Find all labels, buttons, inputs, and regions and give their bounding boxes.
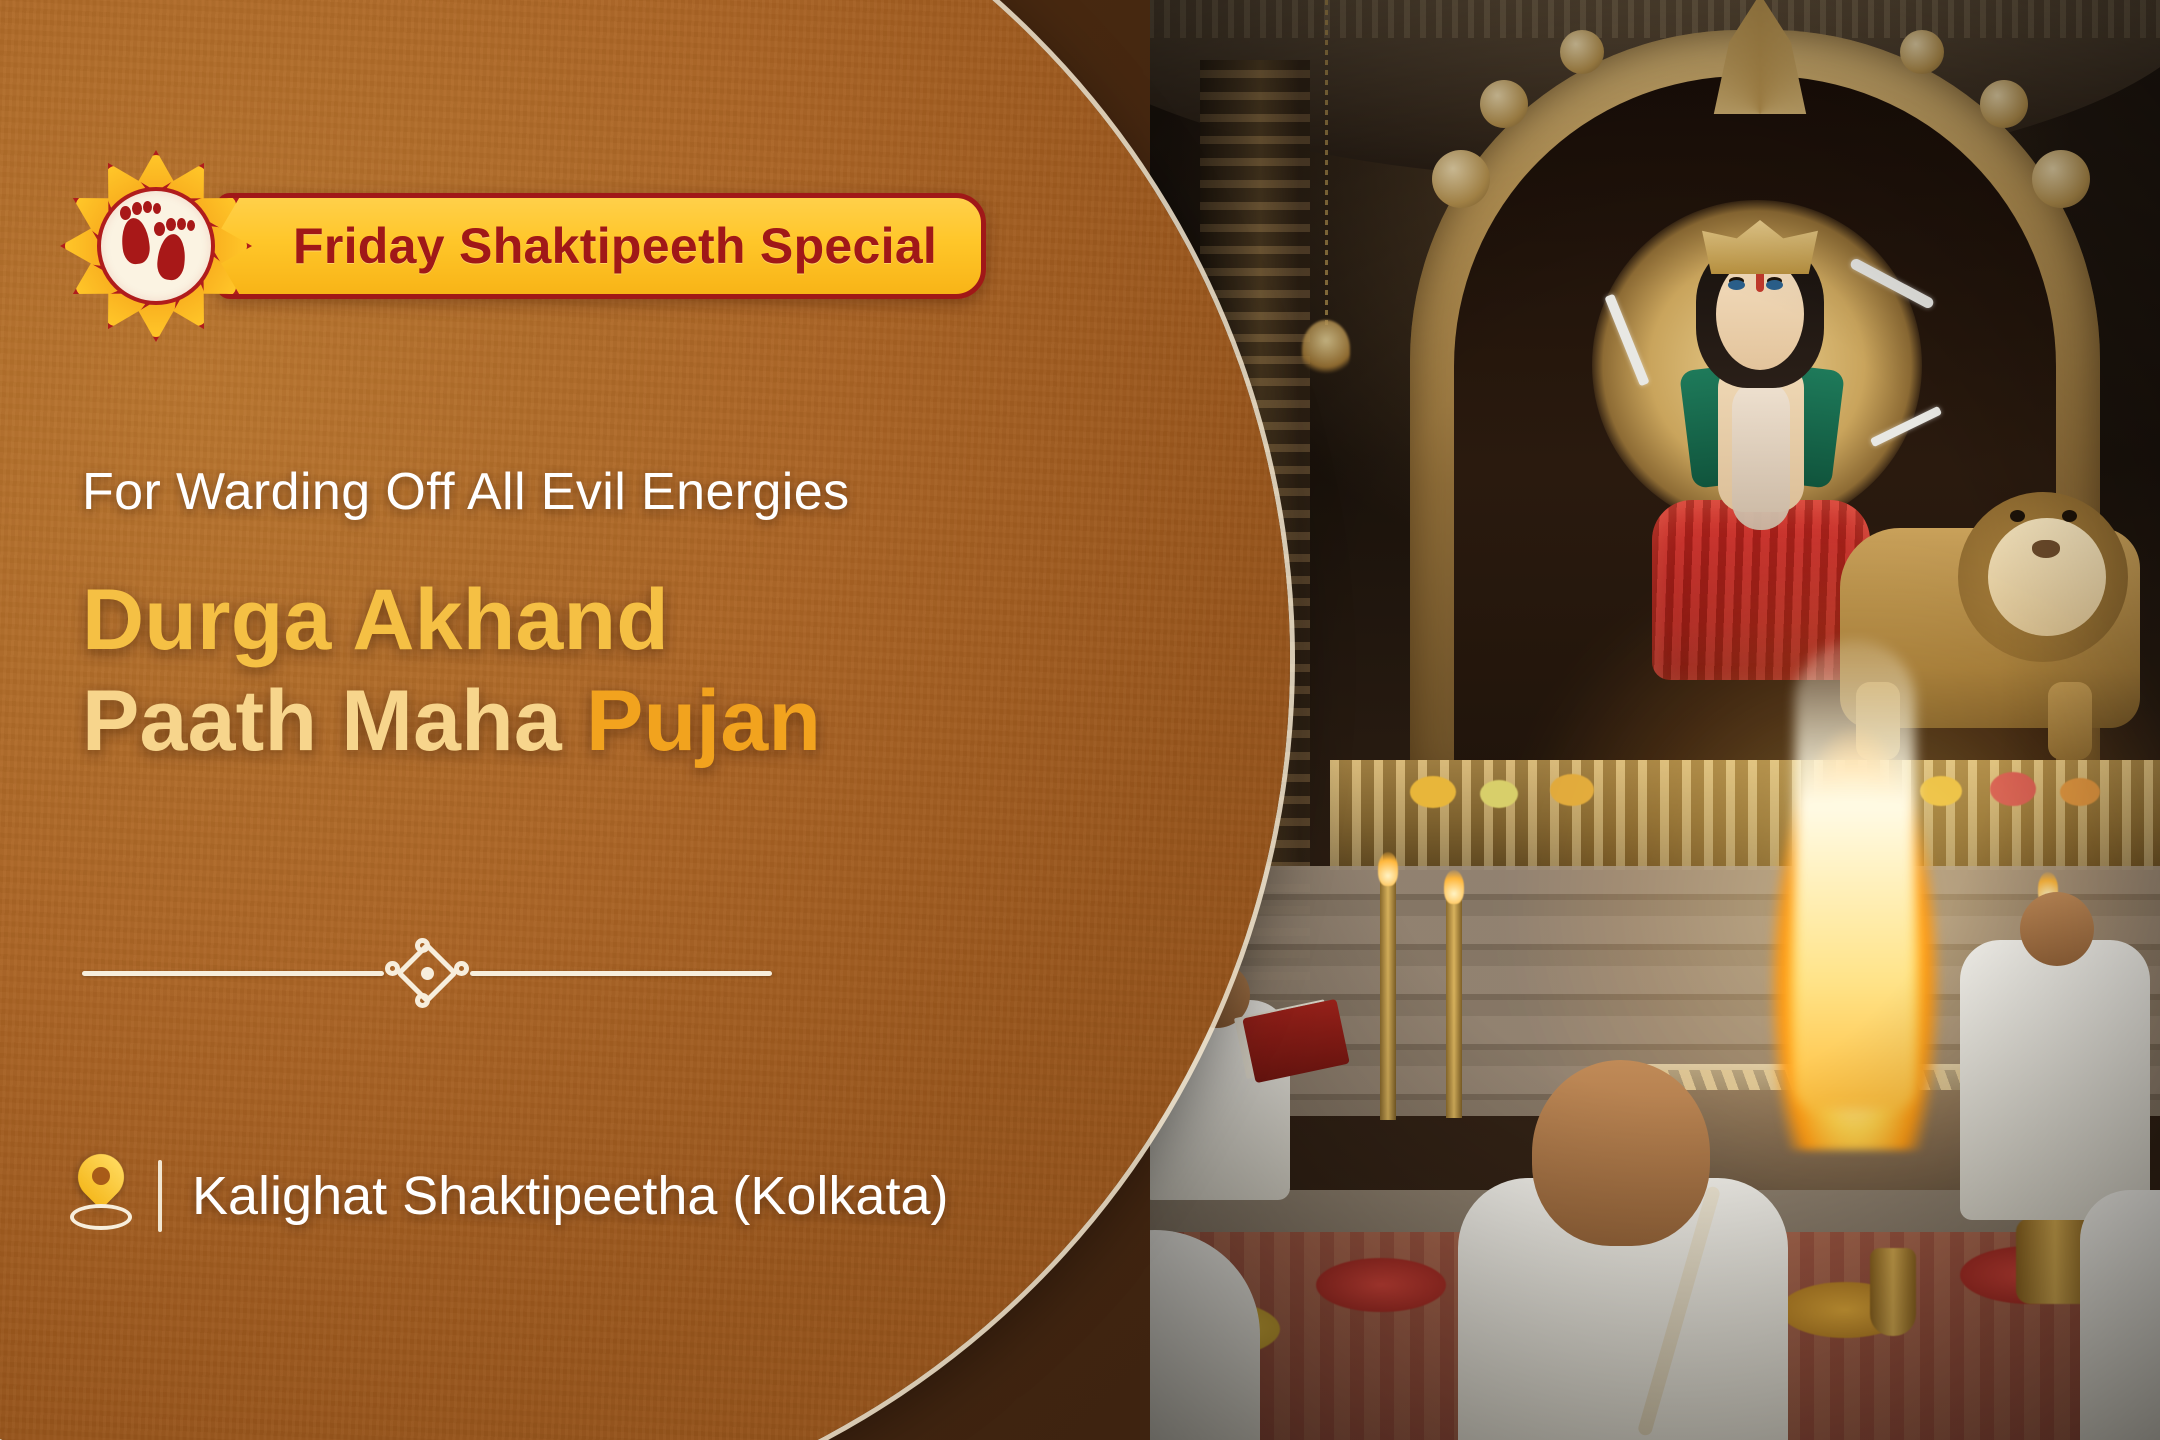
hero-title-line-2: Paath Maha Pujan [82, 671, 821, 772]
divider-line-left [82, 971, 384, 976]
hero-title-line-1: Durga Akhand [82, 570, 821, 671]
special-badge-row: Friday Shaktipeeth Special [62, 152, 986, 340]
location-row: Kalighat Shaktipeetha (Kolkata) [70, 1148, 948, 1244]
promotional-banner: Friday Shaktipeeth Special For Warding O… [0, 0, 2160, 1440]
ornamental-divider [82, 936, 772, 1010]
content-area: Friday Shaktipeeth Special For Warding O… [0, 0, 1200, 1440]
hero-title: Durga Akhand Paath Maha Pujan [82, 570, 821, 773]
diamond-ornament-icon [384, 936, 470, 1010]
special-badge[interactable]: Friday Shaktipeeth Special [216, 193, 986, 299]
hero-subtitle: For Warding Off All Evil Energies [82, 462, 849, 522]
map-pin-icon [70, 1154, 132, 1238]
divider-line-right [470, 971, 772, 976]
lotus-charan-paduka-icon [62, 152, 250, 340]
location-name: Kalighat Shaktipeetha (Kolkata) [192, 1165, 948, 1227]
special-badge-label: Friday Shaktipeeth Special [293, 217, 937, 275]
location-separator [158, 1160, 162, 1232]
